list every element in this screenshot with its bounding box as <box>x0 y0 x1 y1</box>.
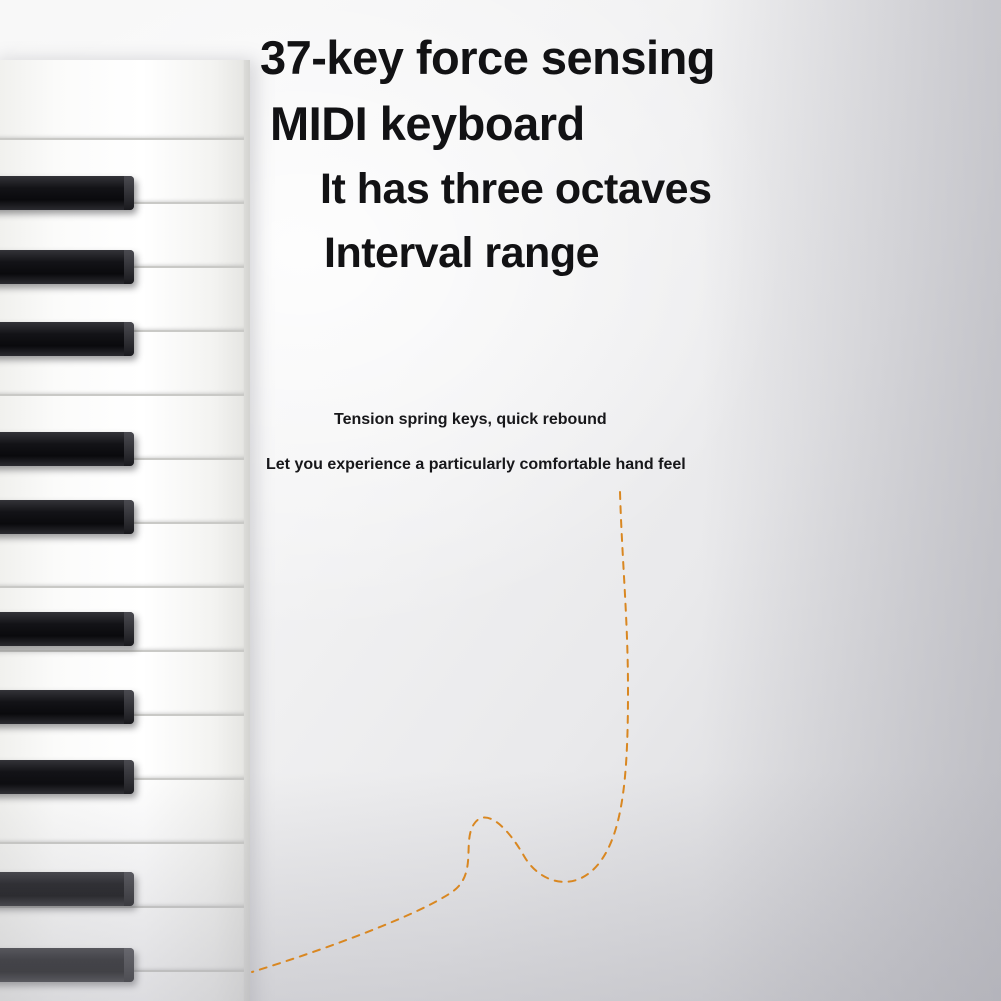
subtext-block: Tension spring keys, quick rebound Let y… <box>260 410 960 474</box>
black-key <box>0 250 134 284</box>
black-key <box>0 500 134 534</box>
white-key <box>0 60 244 140</box>
black-key <box>0 432 134 466</box>
black-key <box>0 322 134 356</box>
black-key <box>0 690 134 724</box>
black-key <box>0 760 134 794</box>
black-key <box>0 872 134 906</box>
product-banner: 37-key force sensing MIDI keyboard It ha… <box>0 0 1001 1001</box>
black-key <box>0 176 134 210</box>
headline-line-1: 37-key force sensing <box>260 34 952 82</box>
subtext-line-2: Let you experience a particularly comfor… <box>266 455 960 474</box>
headline-line-3: It has three octaves <box>320 168 952 212</box>
black-key <box>0 948 134 982</box>
subtext-line-1: Tension spring keys, quick rebound <box>334 410 960 429</box>
headline-line-4: Interval range <box>324 232 952 276</box>
midi-keyboard-photo <box>0 60 260 1001</box>
black-key <box>0 612 134 646</box>
headline-line-2: MIDI keyboard <box>270 100 952 148</box>
headline-block: 37-key force sensing MIDI keyboard It ha… <box>252 34 952 276</box>
